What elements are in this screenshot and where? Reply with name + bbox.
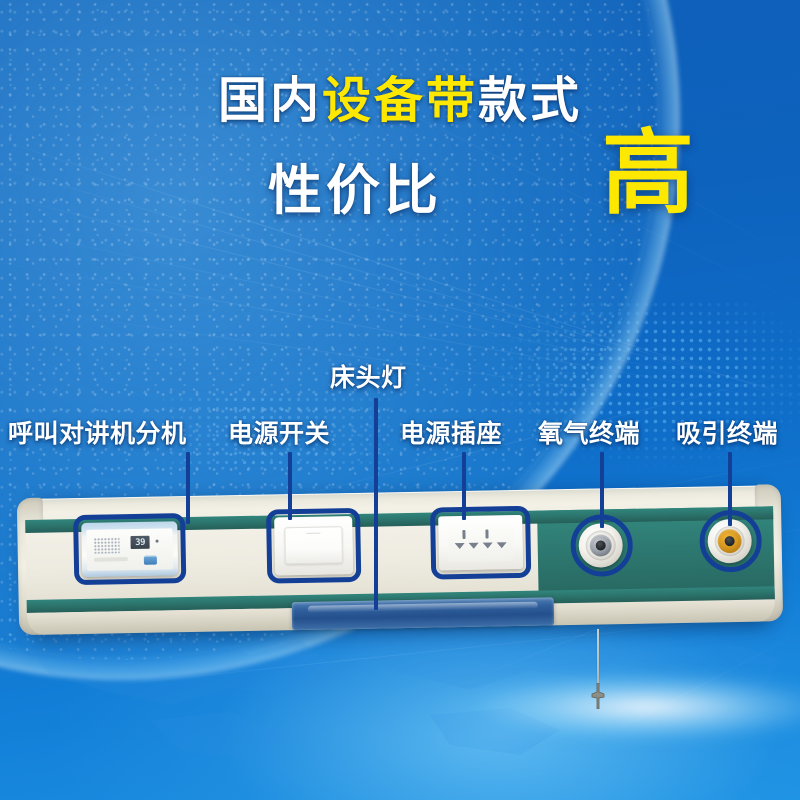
callout-layer: 呼叫对讲机分机 电源开关 床头灯 电源插座 氧气终端 吸引终端 [0,0,800,800]
callout-power-socket: 电源插座 [400,414,502,450]
leader-line-power-socket [462,452,466,520]
callout-suction-terminal: 吸引终端 [676,414,778,450]
callout-power-switch: 电源开关 [228,414,330,450]
leader-line-bed-lamp [374,398,378,610]
leader-line-suction-terminal [728,452,732,526]
product-banner: 国内设备带款式 性价比 高 呼叫对讲机分机 电源开关 床头灯 电源插座 氧气终端… [0,0,800,800]
callout-intercom: 呼叫对讲机分机 [8,414,187,450]
leader-line-intercom [186,452,190,524]
callout-oxygen-terminal: 氧气终端 [538,414,640,450]
callout-bed-lamp: 床头灯 [330,358,407,394]
leader-line-power-switch [288,452,292,520]
leader-line-oxygen-terminal [600,452,604,528]
